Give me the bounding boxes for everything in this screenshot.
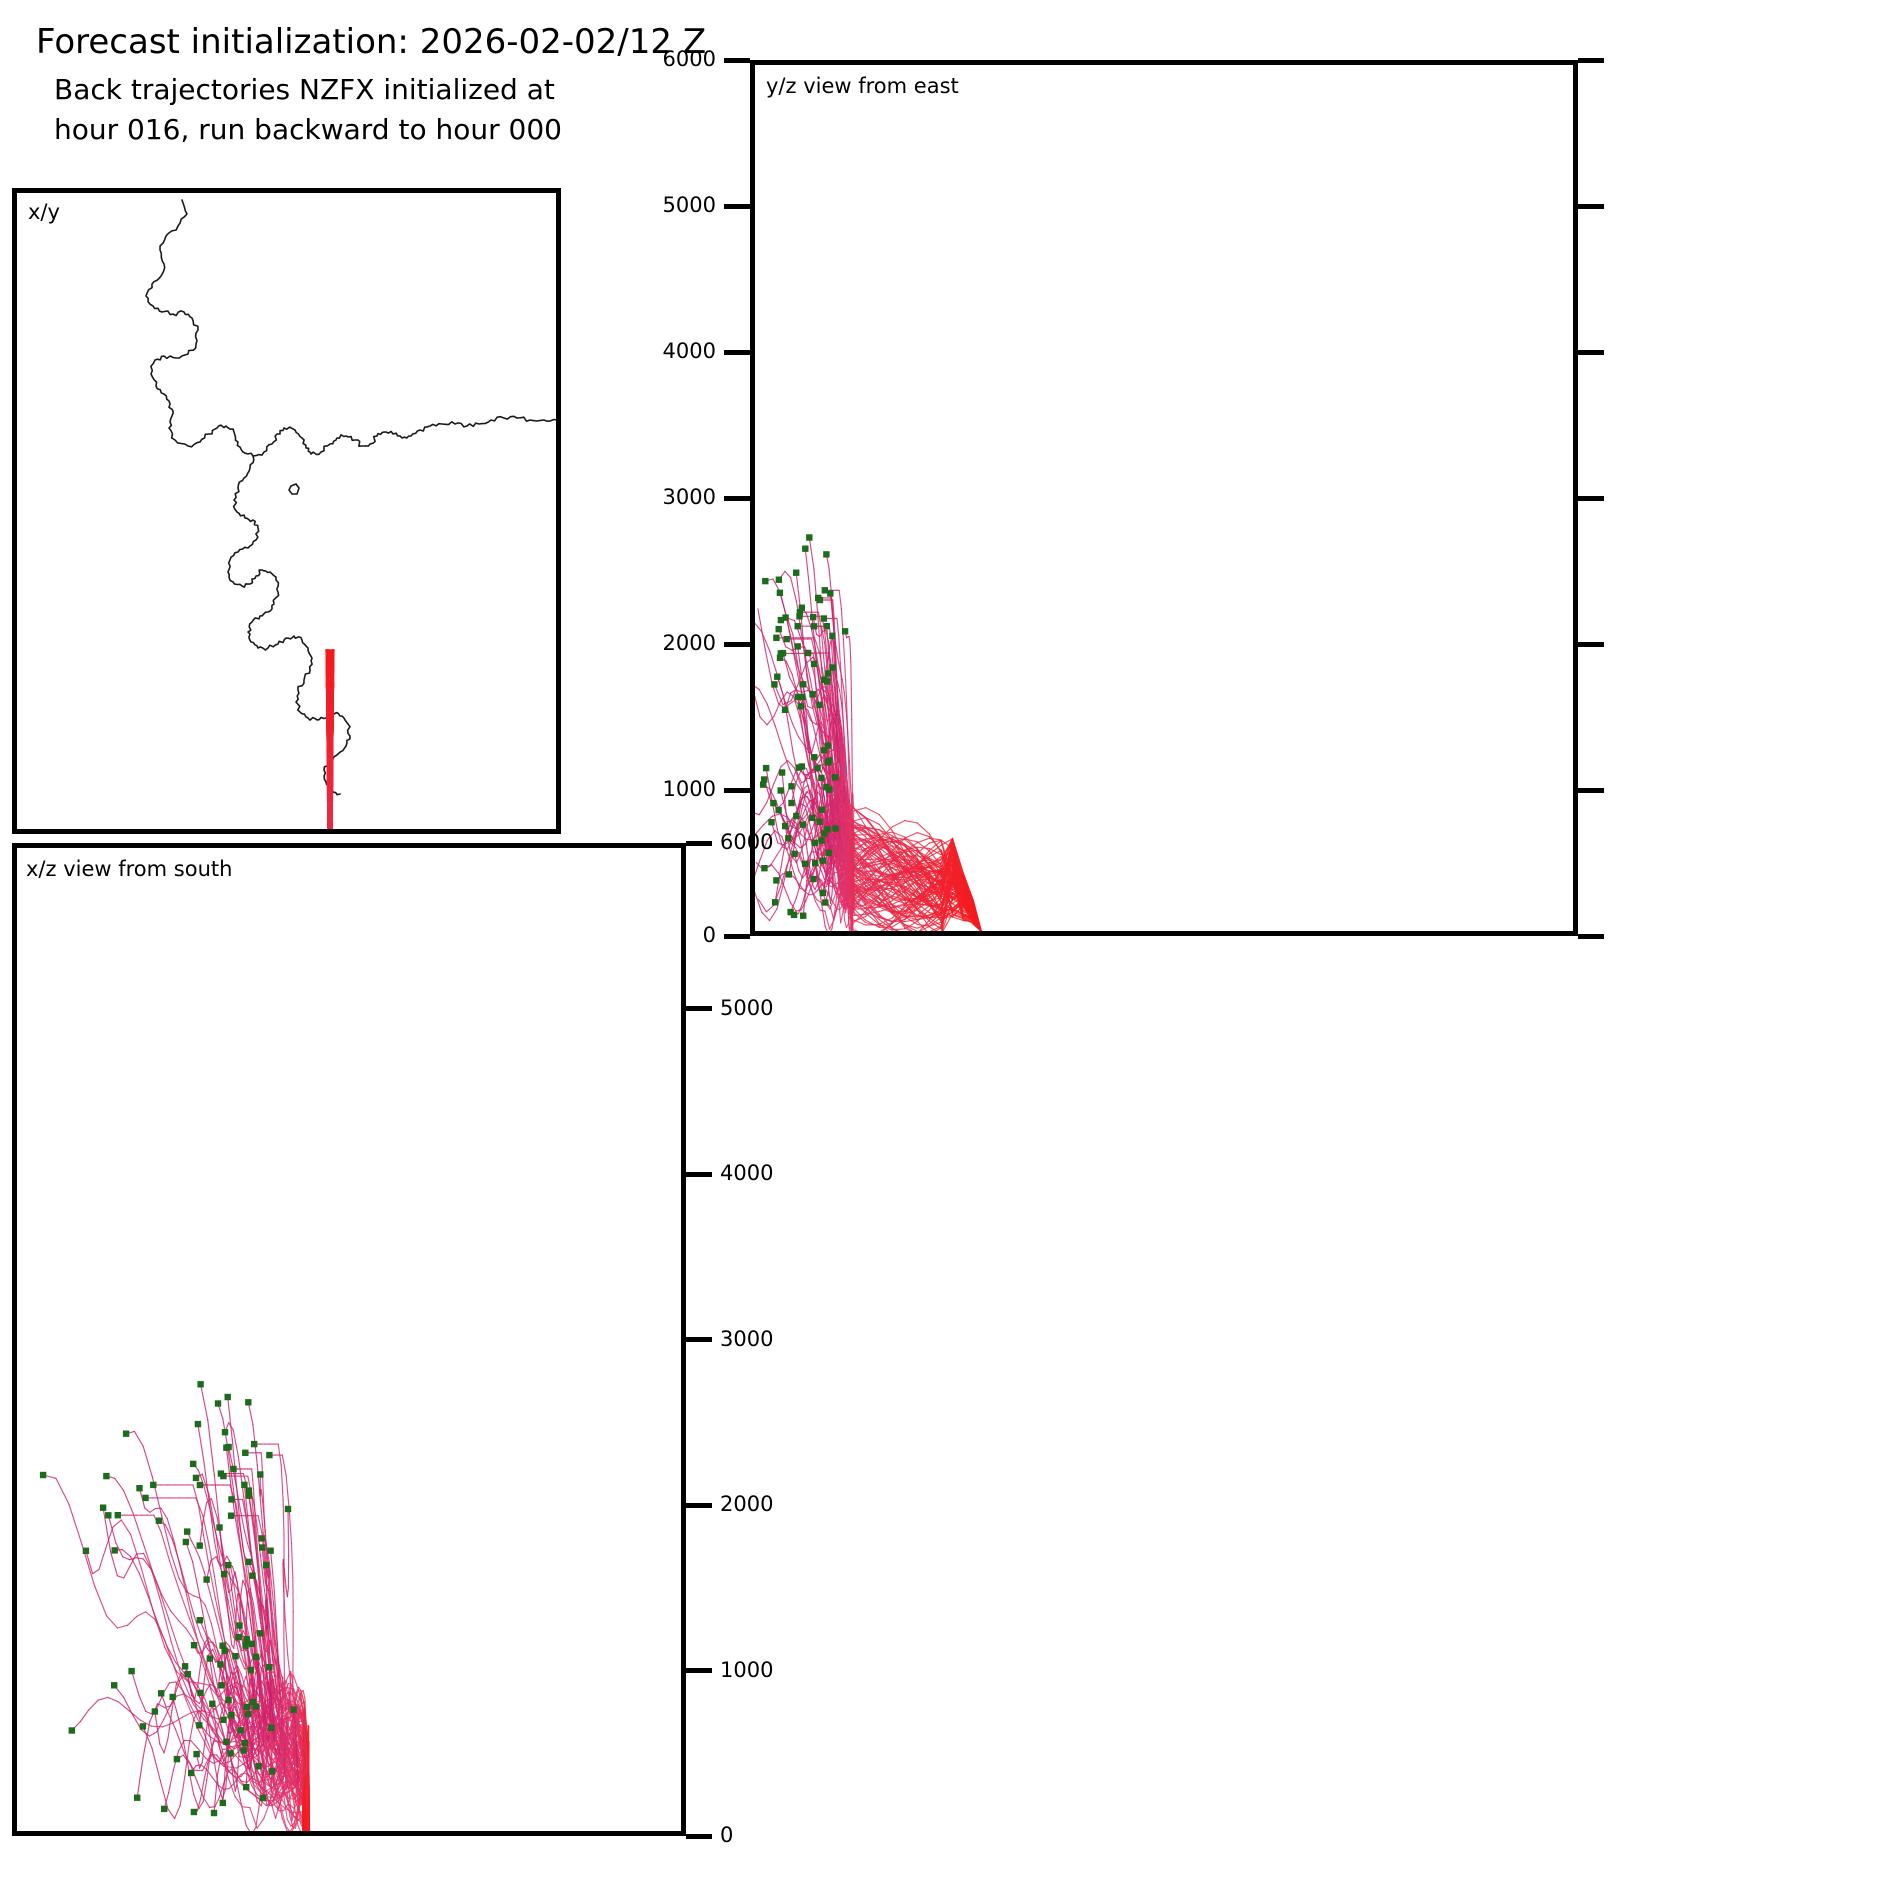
axis-tick xyxy=(724,788,750,793)
panel-cross-section-xz[interactable]: 0100020003000400050006000 x/z view from … xyxy=(12,843,686,1836)
axis-tick xyxy=(686,1834,712,1839)
axis-tick-label: 0 xyxy=(703,925,716,946)
axis-tick xyxy=(1578,934,1604,939)
axis-tick-label: 2000 xyxy=(663,633,716,654)
panel-frame-yz xyxy=(750,60,1578,936)
axis-tick-label: 4000 xyxy=(663,341,716,362)
axis-tick xyxy=(724,642,750,647)
axis-tick xyxy=(686,1503,712,1508)
axis-tick-label: 0 xyxy=(720,1825,733,1846)
axis-tick xyxy=(724,934,750,939)
axis-tick xyxy=(1578,788,1604,793)
axis-tick-label: 1000 xyxy=(720,1660,773,1681)
page-title: Forecast initialization: 2026-02-02/12 Z xyxy=(36,20,856,64)
axis-tick xyxy=(724,350,750,355)
panel-frame-xz xyxy=(12,843,686,1836)
axis-tick-label: 2000 xyxy=(720,1494,773,1515)
axis-tick xyxy=(1578,58,1604,63)
panel-label-xy: x/y xyxy=(28,202,60,223)
axis-tick xyxy=(1578,642,1604,647)
axis-tick xyxy=(686,1172,712,1177)
axis-tick-label: 5000 xyxy=(720,998,773,1019)
axis-tick-label: 3000 xyxy=(720,1329,773,1350)
axis-tick-label: 4000 xyxy=(720,1163,773,1184)
panel-label-xz: x/z view from south xyxy=(26,859,232,880)
axis-tick xyxy=(1578,350,1604,355)
axis-tick xyxy=(724,496,750,501)
panel-label-yz: y/z view from east xyxy=(766,76,959,97)
subtitle-line-2: hour 016, run backward to hour 000 xyxy=(54,110,856,150)
panel-cross-section-yz[interactable]: 0100020003000400050006000 y/z view from … xyxy=(750,60,1578,936)
axis-tick xyxy=(686,841,712,846)
page-subtitle: Back trajectories NZFX initialized at ho… xyxy=(54,70,856,150)
axis-tick-label: 5000 xyxy=(663,195,716,216)
subtitle-line-1: Back trajectories NZFX initialized at xyxy=(54,70,856,110)
axis-tick-label: 3000 xyxy=(663,487,716,508)
panel-plan-view-xy[interactable]: x/y xyxy=(12,188,561,834)
axis-tick xyxy=(686,1337,712,1342)
axis-tick xyxy=(686,1668,712,1673)
axis-tick xyxy=(1578,204,1604,209)
axis-tick xyxy=(686,1006,712,1011)
title-block: Forecast initialization: 2026-02-02/12 Z… xyxy=(36,20,856,150)
panel-frame-xy xyxy=(12,188,561,834)
axis-tick xyxy=(1578,496,1604,501)
axis-tick xyxy=(724,204,750,209)
axis-tick-label: 1000 xyxy=(663,779,716,800)
